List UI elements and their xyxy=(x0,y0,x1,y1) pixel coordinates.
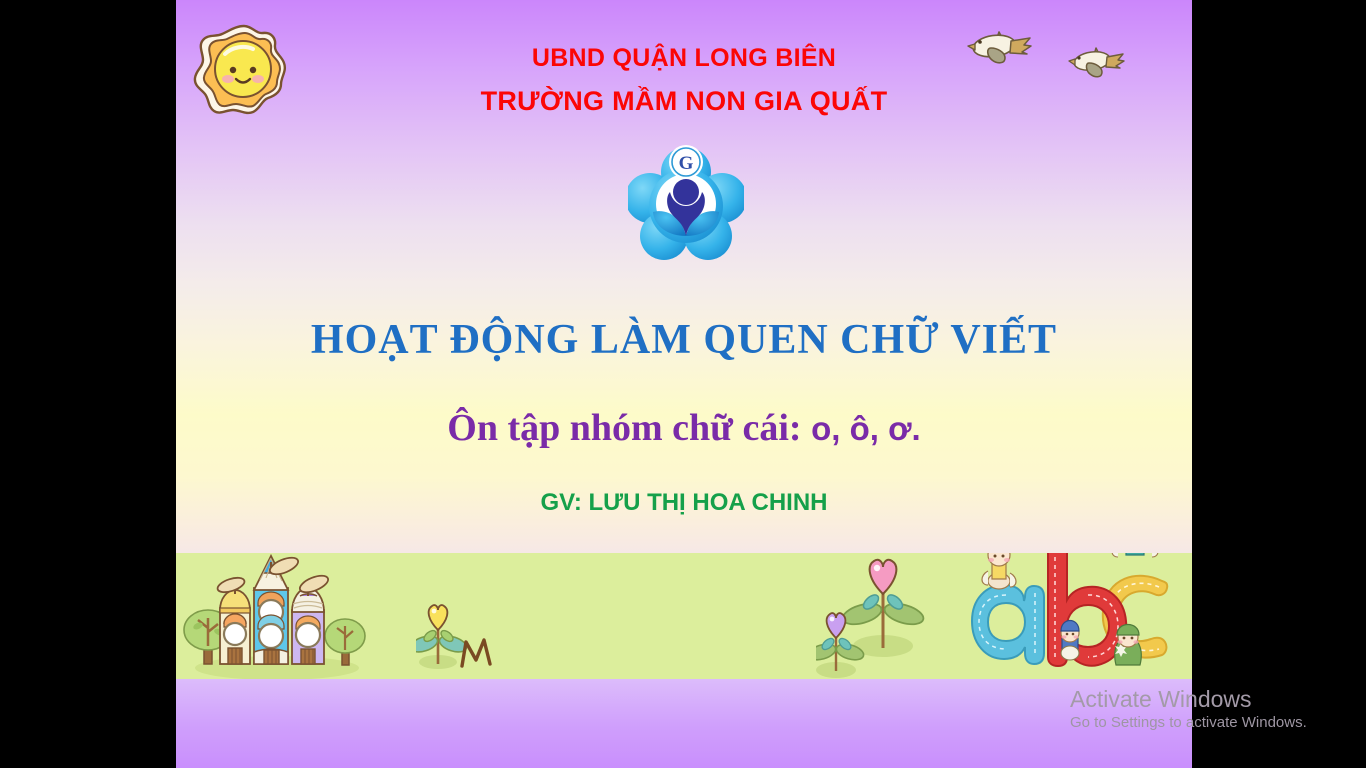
lesson-subtitle: Ôn tập nhóm chữ cái: o, ô, ơ. xyxy=(176,406,1192,450)
heart-flower-pair xyxy=(816,553,928,679)
meadow-band: Năm học:2019- 2020 xyxy=(176,553,1192,679)
watermark-title: Activate Windows xyxy=(1070,686,1360,713)
activate-windows-watermark: Activate Windows Go to Settings to activ… xyxy=(1070,686,1360,733)
pencil-castle-illustration xyxy=(182,553,372,679)
abc-letters-with-fairies-illustration xyxy=(966,553,1192,679)
presentation-slide: UBND QUẬN LONG BIÊN TRƯỜNG MẦM NON GIA Q… xyxy=(176,0,1192,768)
page-title: HOẠT ĐỘNG LÀM QUEN CHỮ VIẾT xyxy=(176,316,1192,364)
org-line-1: UBND QUẬN LONG BIÊN xyxy=(176,44,1192,73)
svg-text:G: G xyxy=(679,153,694,174)
bottom-purple-band xyxy=(176,679,1192,768)
watermark-subtitle: Go to Settings to activate Windows. xyxy=(1070,713,1360,733)
school-logo: G xyxy=(628,140,744,264)
subtitle-prefix: Ôn tập nhóm chữ cái: xyxy=(447,407,811,449)
yellow-heart-flower-icon xyxy=(416,598,494,679)
subtitle-letters: o, ô, ơ. xyxy=(811,410,921,447)
teacher-name: GV: LƯU THỊ HOA CHINH xyxy=(176,489,1192,517)
org-line-2: TRƯỜNG MẦM NON GIA QUẤT xyxy=(176,86,1192,117)
screen: UBND QUẬN LONG BIÊN TRƯỜNG MẦM NON GIA Q… xyxy=(0,0,1366,768)
